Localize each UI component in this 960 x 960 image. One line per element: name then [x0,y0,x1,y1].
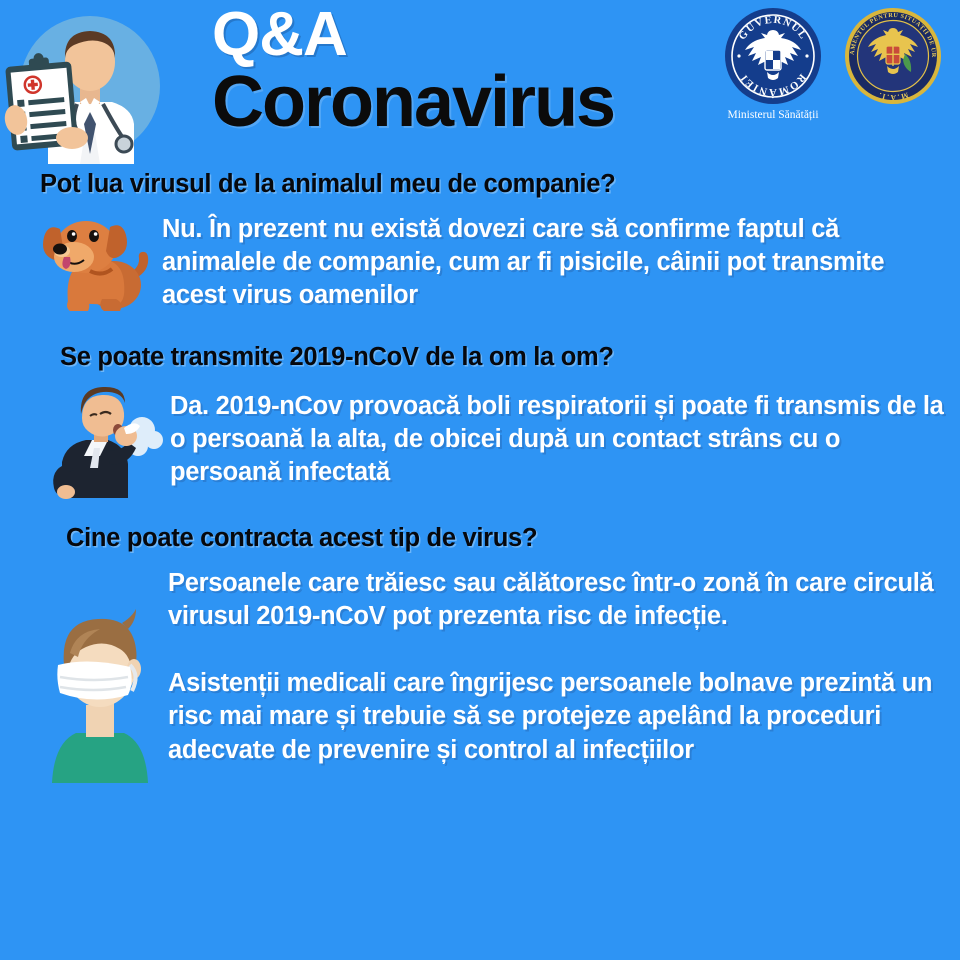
question-risk-groups: Cine poate contracta acest tip de virus? [66,524,948,553]
person-with-face-mask-icon [36,593,164,783]
coronavirus-qa-poster: Q&A Coronavirus GUVERNUL ROMÂNIEI [0,0,960,960]
answer-row-risk-groups: Persoanele care trăiesc sau călătoresc î… [36,565,948,783]
question-pets: Pot lua virusul de la animalul meu de co… [40,170,948,199]
qa-section-risk-groups: Cine poate contracta acest tip de virus? [0,524,960,783]
emblem-caption-ministerul-sanatatii: Ministerul Sănătății [727,109,818,121]
poster-title: Q&A Coronavirus [212,6,712,137]
question-human-transmission: Se poate transmite 2019-nCoV de la om la… [60,343,948,372]
answer-row-pets: Nu. În prezent nu există dovezi care să … [36,207,948,319]
emblem-departamentul-situatii-urgenta: DEPARTAMENTUL PENTRU SITUAȚII DE URGENȚĂ… [840,6,946,106]
answer-risk-travelers: Persoanele care trăiesc sau călătoresc î… [168,567,948,633]
government-emblems: GUVERNUL ROMÂNIEI [720,6,946,121]
qa-section-human-transmission: Se poate transmite 2019-nCoV de la om la… [0,343,960,498]
poster-header: Q&A Coronavirus GUVERNUL ROMÂNIEI [0,0,960,168]
coughing-man-icon [38,380,166,498]
answer-human-transmission: Da. 2019-nCov provoacă boli respiratorii… [170,390,948,489]
answer-pets: Nu. În prezent nu există dovezi care să … [162,213,948,312]
answer-text-group-human-transmission: Da. 2019-nCov provoacă boli respiratorii… [166,382,948,489]
departamentul-pentru-situatii-de-urgenta-seal-icon: DEPARTAMENTUL PENTRU SITUAȚII DE URGENȚĂ… [843,6,943,106]
title-line-qa: Q&A [212,6,712,65]
emblem-guvernul-romaniei: GUVERNUL ROMÂNIEI [720,6,826,121]
title-line-coronavirus: Coronavirus [212,67,712,138]
dog-icon [30,203,158,319]
answer-text-group-pets: Nu. În prezent nu există dovezi care să … [158,207,948,312]
answer-risk-healthcare-workers: Asistenții medicali care îngrijesc perso… [168,667,948,766]
guvernul-romaniei-seal-icon: GUVERNUL ROMÂNIEI [723,6,823,106]
answer-text-group-risk-groups: Persoanele care trăiesc sau călătoresc î… [164,565,948,767]
doctor-with-clipboard-icon [4,12,172,164]
qa-section-pets: Pot lua virusul de la animalul meu de co… [0,170,960,319]
answer-row-human-transmission: Da. 2019-nCov provoacă boli respiratorii… [36,382,948,498]
